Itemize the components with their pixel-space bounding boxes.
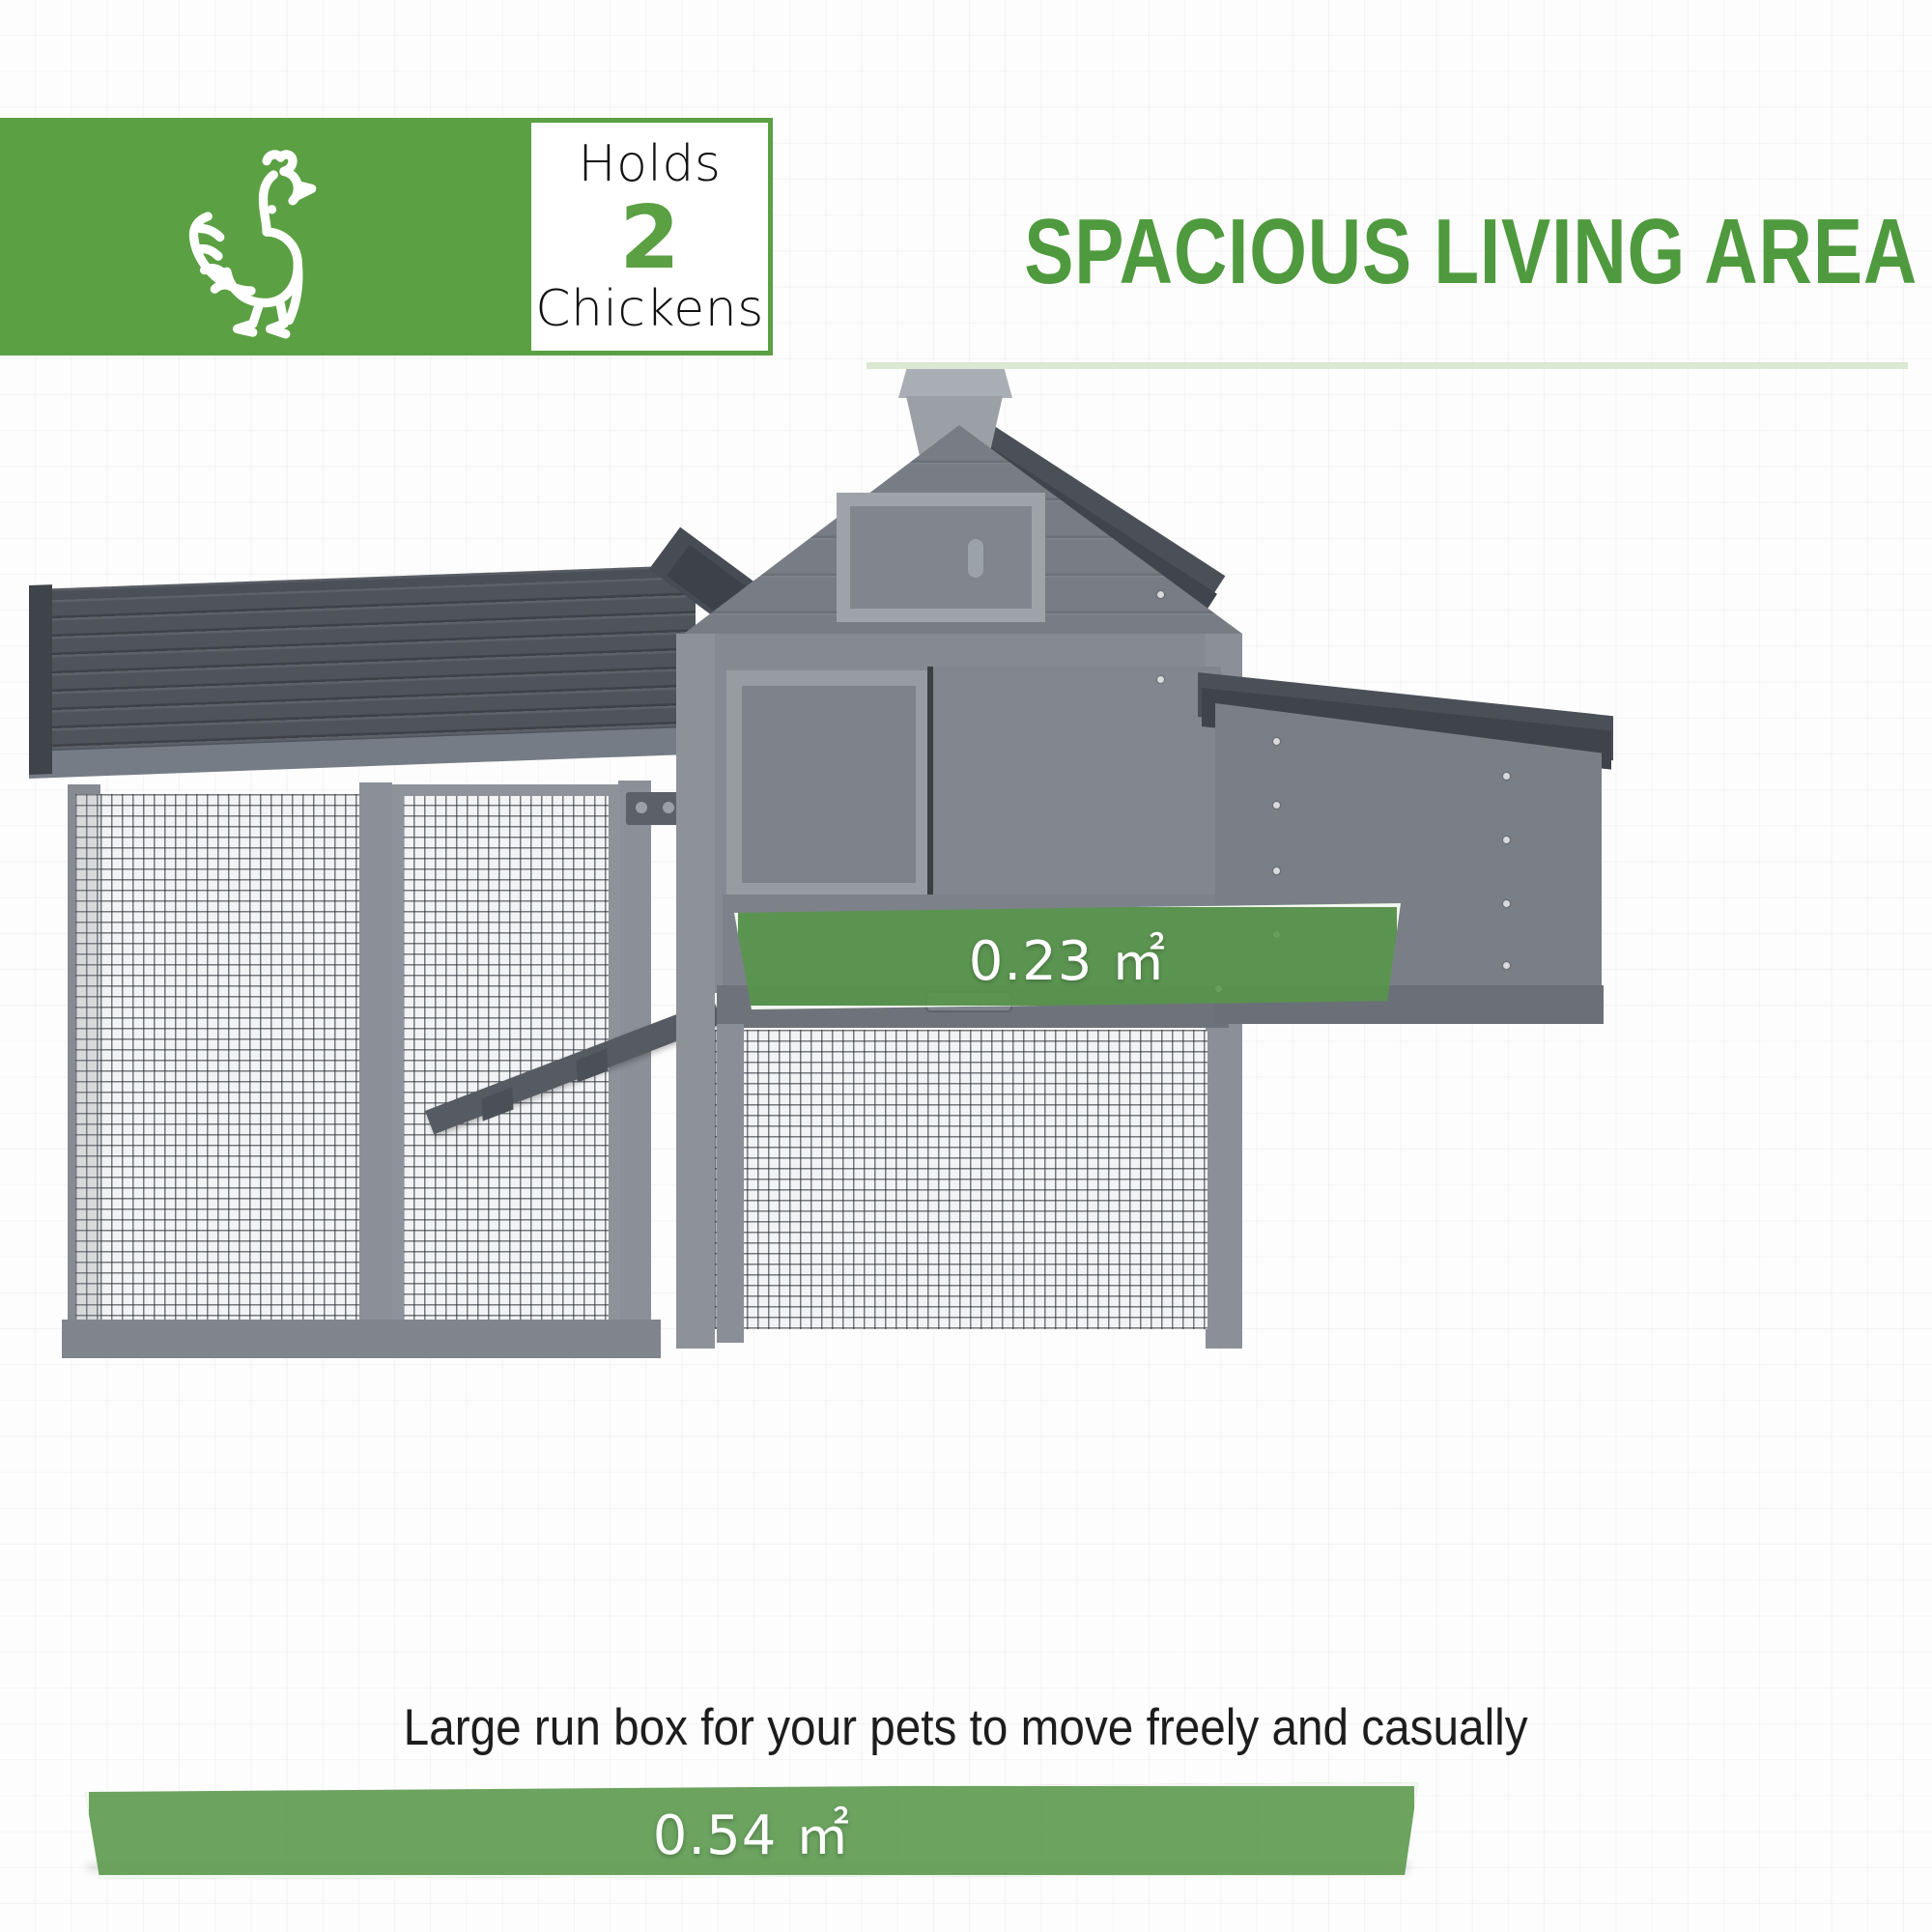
door-hinge-bolt-2 — [663, 802, 674, 813]
house-door-right-panel — [935, 670, 1217, 895]
run-roof-slab — [29, 577, 696, 755]
door-hinge — [626, 792, 684, 825]
house-door-left-panel — [742, 686, 916, 883]
nest-area-overlay: 0.23 ㎡ — [734, 903, 1401, 1009]
badge-holds-label: Holds — [579, 139, 722, 189]
screw — [1273, 802, 1280, 809]
under-house-post-mid — [717, 1024, 744, 1343]
infographic-canvas: 0.23 ㎡ 0.54 ㎡ — [0, 0, 1932, 1932]
screw — [1503, 900, 1510, 907]
house-upper-window-handle — [966, 537, 985, 580]
caption-text: Large run box for your pets to move free… — [404, 1698, 1528, 1757]
product-photo-chicken-coop: 0.23 ㎡ 0.54 ㎡ — [0, 348, 1932, 1642]
chicken-icon — [159, 133, 367, 341]
badge-count-value: 2 — [619, 195, 680, 282]
house-door-gap — [927, 667, 933, 898]
caption: Large run box for your pets to move free… — [0, 1698, 1932, 1757]
house-upper-window-panel — [850, 506, 1032, 609]
page-title-text: SPACIOUS LIVING AREA — [1024, 199, 1918, 305]
screw — [1273, 867, 1280, 874]
nest-area-label: 0.23 ㎡ — [969, 918, 1167, 996]
run-roof-left-return — [29, 584, 52, 775]
under-house-mesh — [715, 1030, 1207, 1329]
roof-ridge-cap — [898, 365, 1012, 398]
screw — [1157, 591, 1164, 598]
door-hinge-bolt-1 — [636, 802, 647, 813]
screw — [1503, 837, 1510, 843]
capacity-badge: Holds 2 Chickens — [0, 118, 773, 355]
run-mesh-side-wrap — [75, 794, 100, 1321]
run-post-mid — [359, 782, 392, 1328]
page-title: SPACIOUS LIVING AREA — [850, 189, 1918, 315]
house-post-left — [676, 634, 715, 1349]
run-area-overlay: 0.54 ㎡ — [85, 1782, 1418, 1879]
screw — [1273, 738, 1280, 745]
badge-icon-panel — [0, 118, 526, 355]
run-base-rail — [62, 1320, 661, 1358]
screw — [1157, 676, 1164, 683]
screw — [1503, 962, 1510, 969]
run-area-label: 0.54 ㎡ — [653, 1792, 851, 1870]
screw — [1503, 773, 1510, 780]
title-underline-rule — [867, 362, 1908, 369]
badge-text-panel: Holds 2 Chickens — [526, 118, 773, 355]
badge-unit-label: Chickens — [535, 284, 764, 334]
run-mesh-panel-left — [100, 794, 359, 1321]
